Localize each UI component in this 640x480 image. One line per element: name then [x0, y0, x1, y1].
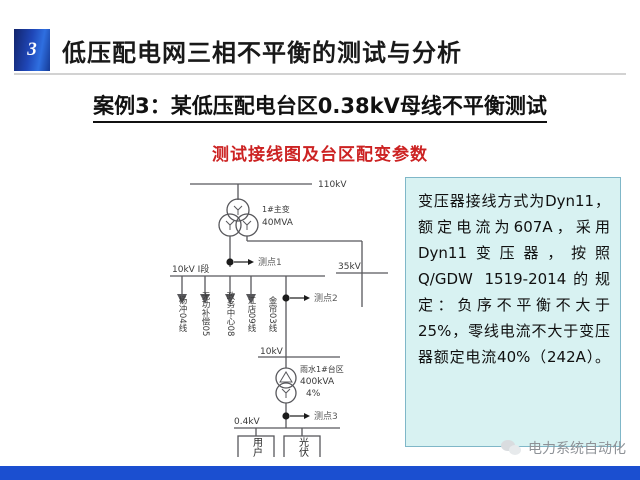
label-measurement-point-3: 测点3: [314, 411, 338, 422]
measurement-point-2-marker: [282, 294, 310, 301]
label-main-transformer-name: 1#主变: [262, 204, 290, 214]
label-measurement-point-1: 测点1: [258, 257, 282, 268]
label-dist-transformer-name: 雨水1#台区: [300, 364, 344, 374]
label-main-transformer-rating: 40MVA: [262, 218, 294, 228]
case-title-wrapper: 案例3：某低压配电台区0.38kV母线不平衡测试: [0, 90, 640, 120]
single-line-diagram: 110kV 1#主变 40MVA 测点1 10kV I段 35kV 测点2 10…: [150, 172, 402, 457]
label-bus-10kv-I: 10kV I段: [172, 263, 209, 275]
label-feeder-2: 无功补偿05: [200, 292, 210, 337]
label-feeder-4: 江店09线: [246, 296, 256, 332]
label-load-pv: 光伏: [297, 436, 309, 457]
label-measurement-point-2: 测点2: [314, 293, 338, 304]
label-bus-10kv: 10kV: [260, 347, 284, 357]
header-divider: [14, 73, 626, 75]
measurement-point-3-marker: [282, 412, 310, 419]
section-number-badge: 3: [14, 29, 50, 71]
watermark-text: 电力系统自动化: [528, 438, 626, 458]
label-dist-transformer-rating: 400kVA: [300, 377, 335, 387]
transformer-parameters-text: 变压器接线方式为Dyn11，额定电流为607A，采用Dyn11变压器，按照Q/G…: [418, 188, 610, 370]
bottom-accent-bar: [0, 466, 640, 480]
slide-root: 3 低压配电网三相不平衡的测试与分析 案例3：某低压配电台区0.38kV母线不平…: [0, 0, 640, 480]
measurement-point-1-marker: [226, 258, 254, 265]
label-feeder-5: 金帘03线: [267, 295, 277, 332]
page-title: 低压配电网三相不平衡的测试与分析: [62, 33, 462, 68]
watermark: 电力系统自动化: [501, 438, 626, 458]
wechat-logo-icon: [501, 440, 523, 456]
label-feeder-1: 杨冲04线: [177, 295, 187, 332]
label-bus-04kv: 0.4kV: [234, 417, 261, 427]
label-dist-transformer-impedance: 4%: [306, 389, 321, 399]
label-load-user: 用户: [251, 437, 263, 457]
label-bus-35kv: 35kV: [338, 262, 362, 272]
label-bus-110kv: 110kV: [318, 180, 347, 190]
case-subtitle: 测试接线图及台区配变参数: [0, 140, 640, 165]
transformer-parameters-box: 变压器接线方式为Dyn11，额定电流为607A，采用Dyn11变压器，按照Q/G…: [405, 177, 621, 447]
case-title: 案例3：某低压配电台区0.38kV母线不平衡测试: [93, 94, 547, 123]
label-feeder-3: 政务中心08: [225, 291, 235, 336]
slide-header: 3 低压配电网三相不平衡的测试与分析: [0, 27, 640, 73]
